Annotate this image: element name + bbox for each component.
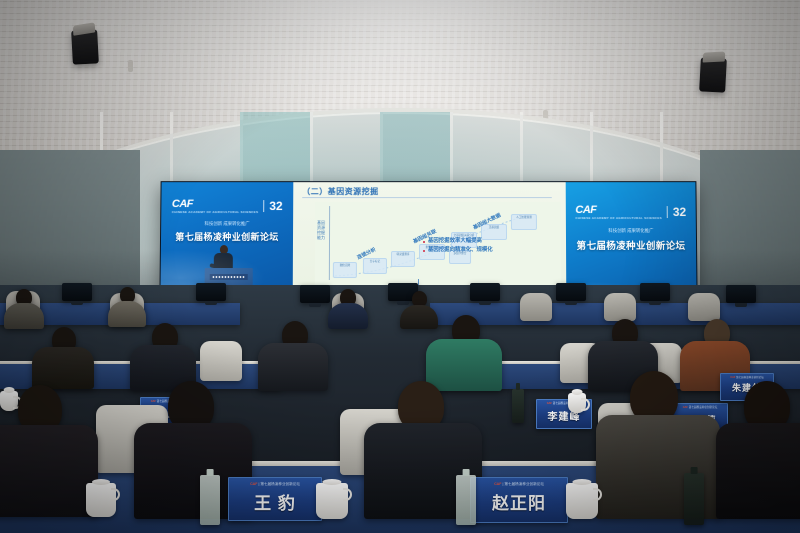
audience-torso <box>4 303 44 329</box>
nameplate-name: 赵正阳 <box>492 489 546 514</box>
monitor <box>556 283 586 301</box>
edition-number-right: 32 <box>673 205 686 219</box>
slide-bullet-text: 基因挖掘效率大幅提高 <box>428 237 482 246</box>
slogan-left: 科技创新 成果转化推广 <box>161 221 293 227</box>
water-bottle <box>684 473 704 525</box>
forum-title-left: 第七届杨凌种业创新论坛 <box>161 230 293 243</box>
chair <box>604 293 636 321</box>
chair <box>200 341 242 381</box>
nameplate-name: 王 豹 <box>254 489 296 514</box>
bullet-marker-icon <box>423 249 425 251</box>
speaker-head <box>220 245 228 254</box>
speaker-arm <box>209 263 218 269</box>
chart-y-axis-label: 基因资源挖掘能力 <box>317 220 325 240</box>
nameplate: CAF | 第七届杨凌种业创新论坛 王 豹 <box>228 477 322 521</box>
audience-torso <box>0 425 98 517</box>
led-presentation-screen: CAF CHINESE ACADEMY OF AGRICULTURAL SCIE… <box>159 181 697 299</box>
slide-bullet-list: 基因挖掘效率大幅提高 基因挖掘向精准化、规模化 <box>423 237 558 255</box>
audience-torso <box>108 301 146 327</box>
audience-torso <box>258 343 328 391</box>
chart-node: 分子标记 <box>363 258 387 274</box>
bullet-marker-icon <box>423 240 425 242</box>
tea-cup <box>568 393 586 413</box>
podium-plate <box>210 274 248 280</box>
monitor <box>300 285 330 303</box>
caf-logo-right: CAF <box>575 204 596 216</box>
screen-panel-right: CAF CHINESE ACADEMY OF AGRICULTURAL SCIE… <box>566 182 697 298</box>
tea-cup <box>0 391 18 411</box>
ceiling-fixture-left <box>128 60 133 72</box>
audience-torso <box>716 423 800 519</box>
tea-cup <box>566 483 598 519</box>
slide-bullet: 基因挖掘向精准化、规模化 <box>423 246 558 255</box>
monitor <box>62 283 92 301</box>
nameplate: CAF | 第七届杨凌种业创新论坛 赵正阳 <box>470 477 568 523</box>
monitor <box>470 283 500 301</box>
tea-cup <box>316 483 348 519</box>
chair <box>688 293 720 321</box>
conference-hall-photo: CAF CHINESE ACADEMY OF AGRICULTURAL SCIE… <box>0 0 800 533</box>
audience-area: CAF 第七届杨凌种业创新论坛 刘耿 CAF 第七届杨凌种业创新论坛 李建峰 C… <box>0 285 800 533</box>
audience-torso <box>400 305 438 329</box>
forum-title-right: 第七届杨凌种业创新论坛 <box>566 238 696 252</box>
slide-bullet: 基因挖掘效率大幅提高 <box>423 237 558 246</box>
caf-logo-left: CAF <box>172 198 193 210</box>
slogan-right: 科技创新 成果转化推广 <box>566 228 696 234</box>
monitor <box>196 283 226 301</box>
audience-torso <box>32 347 94 389</box>
monitor <box>726 285 756 303</box>
tea-cup <box>86 483 116 517</box>
chart-node: 转录组测序 <box>391 251 415 267</box>
speaker-body <box>214 253 233 272</box>
wall-speaker-left-icon <box>71 29 99 64</box>
chart-node: 人工智能预测 <box>511 214 537 230</box>
chair <box>520 293 552 321</box>
water-bottle <box>512 389 524 423</box>
edition-number-left: 32 <box>269 199 282 213</box>
chart-node: 图位克隆 <box>333 262 357 278</box>
caf-logo-sub-right: CHINESE ACADEMY OF AGRICULTURAL SCIENCES <box>575 216 662 220</box>
wall-speaker-right-icon <box>699 57 727 92</box>
monitor <box>640 283 670 301</box>
slide-bullet-text: 基因挖掘向精准化、规模化 <box>428 246 493 255</box>
slide-title-rule <box>302 197 552 198</box>
slide-title: （二）基因资源挖掘 <box>302 186 378 197</box>
water-bottle <box>200 475 220 525</box>
water-bottle <box>456 475 476 525</box>
screen-panel-left: CAF CHINESE ACADEMY OF AGRICULTURAL SCIE… <box>160 182 293 298</box>
audience-torso <box>426 339 502 391</box>
caf-logo-sub-left: CHINESE ACADEMY OF AGRICULTURAL SCIENCES <box>172 210 259 214</box>
screen-panel-center-slide: （二）基因资源挖掘 基因资源挖掘能力 时间 现在 图位克隆 分子标记 转录组测序… <box>293 182 567 298</box>
audience-torso <box>328 303 368 329</box>
